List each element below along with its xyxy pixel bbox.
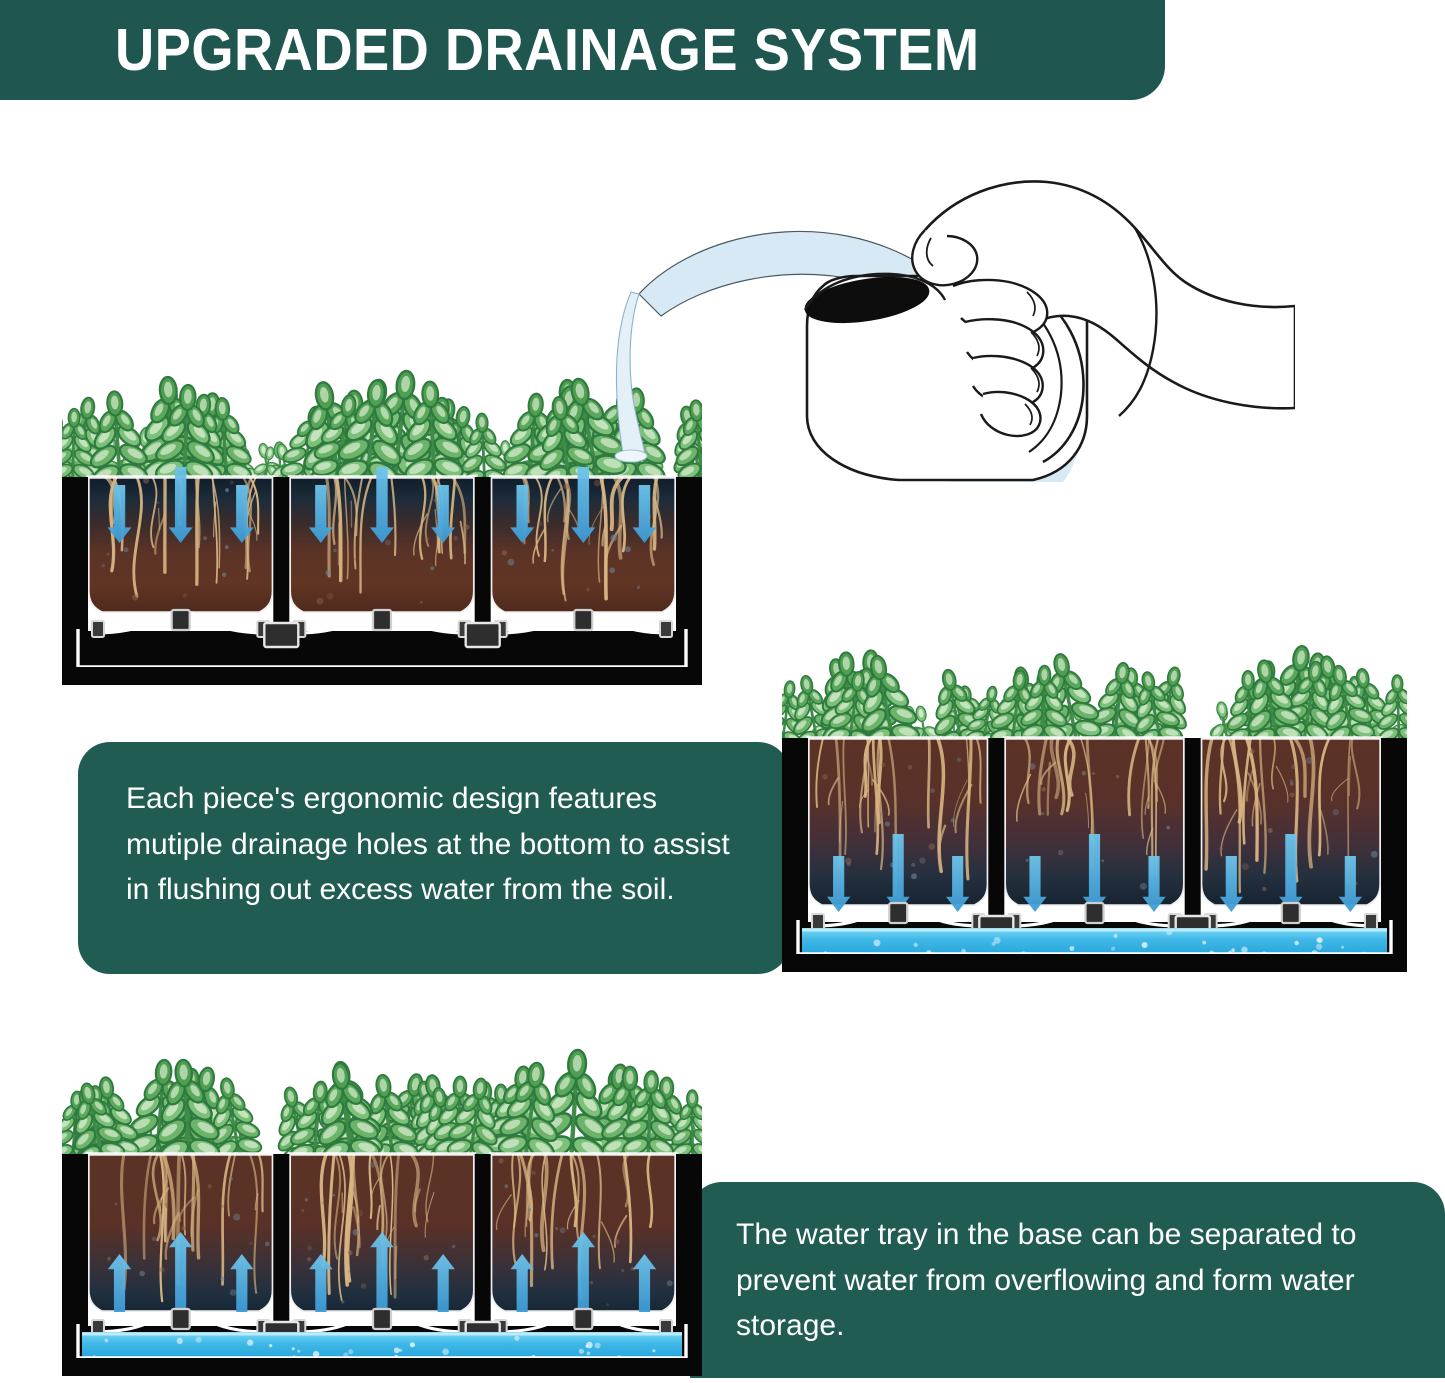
header-banner: UPGRADED DRAINAGE SYSTEM: [0, 0, 1165, 100]
soil-speckle: [1333, 809, 1339, 815]
tray-bottom-wall: [62, 667, 702, 685]
soil-speckle: [555, 1227, 558, 1230]
soil-speckle: [609, 568, 615, 574]
page-title: UPGRADED DRAINAGE SYSTEM: [115, 21, 980, 80]
water-bubble: [1316, 944, 1322, 950]
water-bubble: [1070, 946, 1075, 951]
drainage-hole: [1086, 903, 1104, 923]
divider-support-block: [466, 623, 500, 647]
soil-speckle: [929, 843, 936, 850]
soil-speckle: [305, 1198, 309, 1202]
soil-speckle: [1290, 792, 1295, 797]
soil-speckle: [1041, 787, 1046, 792]
water-bubble: [247, 1340, 253, 1346]
root-filament: [928, 738, 929, 827]
soil-speckle: [152, 1236, 157, 1241]
planter-bottom-storage: [62, 1030, 702, 1383]
drainage-hole: [574, 610, 592, 630]
soil-speckle: [208, 1184, 212, 1188]
soil-speckle: [667, 1280, 673, 1286]
soil-speckle: [957, 758, 961, 762]
planter-bottom-graphic: [62, 1030, 702, 1378]
soil-speckle: [332, 1194, 335, 1197]
soil-speckle: [132, 594, 138, 600]
soil-speckle: [354, 558, 356, 560]
soil-speckle: [341, 1300, 344, 1303]
water-bubble: [105, 1339, 109, 1343]
water-bubble: [1341, 946, 1344, 949]
water-bubble: [994, 937, 1001, 944]
soil-speckle: [101, 564, 105, 568]
water-bubble: [585, 1345, 588, 1348]
soil-speckle: [1289, 779, 1293, 783]
soil-speckle: [908, 765, 912, 769]
water-splash: [615, 450, 647, 462]
soil-speckle: [426, 537, 429, 540]
water-bubble: [292, 1347, 295, 1350]
water-bubble: [1142, 942, 1148, 948]
soil-speckle: [453, 536, 457, 540]
soil-speckle: [560, 1227, 566, 1233]
soil-speckle: [230, 1289, 237, 1296]
soil-speckle: [1166, 826, 1170, 830]
water-bubble: [1317, 937, 1323, 943]
water-bubble: [297, 1350, 300, 1353]
soil-speckle: [531, 1171, 535, 1175]
soil-speckle: [507, 559, 514, 566]
planter-middle-graphic: [782, 628, 1407, 976]
soil-speckle: [229, 1177, 233, 1181]
soil-speckle: [307, 1257, 311, 1261]
callout-water-tray: The water tray in the base can be separa…: [690, 1182, 1445, 1378]
soil-speckle: [353, 1229, 360, 1236]
callout-drainage-holes-text: Each piece's ergonomic design features m…: [126, 776, 750, 913]
water-bubble: [587, 1351, 591, 1355]
water-bubble: [1114, 934, 1118, 938]
soil-speckle: [420, 601, 423, 604]
callout-water-tray-text: The water tray in the base can be separa…: [736, 1212, 1411, 1349]
water-bubble: [196, 1337, 202, 1343]
soil-speckle: [1291, 765, 1295, 769]
soil-speckle: [370, 1162, 376, 1168]
soil-speckle: [434, 499, 437, 502]
divider-support-block: [264, 623, 298, 647]
water-bubble: [269, 1344, 272, 1347]
planter-body-group: [62, 1154, 702, 1376]
soil-speckle: [322, 1202, 325, 1205]
soil-speckle: [106, 553, 109, 556]
callout-drainage-holes: Each piece's ergonomic design features m…: [78, 742, 790, 974]
soil-speckle: [157, 502, 160, 505]
drainage-hole: [1282, 903, 1300, 923]
soil-speckle: [301, 1209, 304, 1212]
soil-speckle: [1026, 859, 1029, 862]
soil-speckle: [606, 1303, 609, 1306]
soil-speckle: [139, 1271, 145, 1277]
soil-speckle: [610, 534, 617, 541]
soil-speckle: [528, 1208, 532, 1212]
drainage-hole: [574, 1309, 592, 1329]
water-bubble: [579, 1349, 584, 1354]
soil-speckle: [465, 525, 470, 530]
tray-bottom-wall: [782, 954, 1407, 972]
soil-speckle: [637, 586, 640, 589]
drainage-hole: [172, 1309, 190, 1329]
soil-speckle: [930, 788, 935, 793]
soil-speckle: [221, 1205, 224, 1208]
soil-speckle: [498, 1158, 503, 1163]
soil-speckle: [1306, 757, 1313, 764]
hand-watering-can-graphic: [595, 110, 1295, 510]
soil-speckle: [430, 566, 434, 570]
soil-speckle: [160, 1267, 165, 1272]
water-bubble: [1294, 941, 1299, 946]
soil-speckle: [327, 593, 334, 600]
soil-speckle: [1082, 771, 1087, 776]
soil-speckle: [225, 488, 229, 492]
water-bubble: [1231, 948, 1235, 952]
soil-speckle: [615, 1239, 620, 1244]
soil-speckle: [230, 481, 234, 485]
soil-speckle: [590, 1281, 594, 1285]
tray-bottom-wall: [62, 1358, 702, 1376]
soil-speckle: [1371, 851, 1378, 858]
soil-speckle: [625, 546, 631, 552]
water-stream-tail: [616, 292, 645, 454]
drain-foot: [92, 621, 104, 637]
drainage-hole: [373, 1309, 391, 1329]
soil-speckle: [1029, 763, 1035, 769]
soil-speckle: [357, 1210, 364, 1217]
soil-speckle: [911, 863, 915, 867]
soil-speckle: [1146, 801, 1150, 805]
water-bubble: [442, 1348, 449, 1355]
water-bubble: [1202, 941, 1206, 945]
water-bubble: [514, 1336, 519, 1341]
soil-speckle: [385, 540, 391, 546]
soil-speckle: [881, 763, 885, 767]
water-bubble: [394, 1347, 400, 1353]
soil-speckle: [333, 549, 337, 553]
soil-speckle: [316, 598, 323, 605]
soil-speckle: [348, 1250, 353, 1255]
water-bubble: [874, 939, 881, 946]
soil-speckle: [911, 873, 917, 879]
soil-speckle: [1268, 828, 1273, 833]
soil-speckle: [225, 545, 229, 549]
water-bubble: [1241, 947, 1247, 953]
soil-speckle: [586, 588, 589, 591]
soil-speckle: [1219, 847, 1222, 850]
soil-speckle: [847, 862, 851, 866]
soil-speckle: [452, 1245, 455, 1248]
soil-speckle: [1092, 772, 1095, 775]
soil-speckle: [249, 1242, 252, 1245]
soil-speckle: [919, 857, 925, 863]
water-bubble: [1111, 947, 1115, 951]
soil-speckle: [950, 818, 954, 822]
soil-speckle: [822, 774, 828, 780]
soil-speckle: [326, 570, 332, 576]
planter-middle-draining: [782, 628, 1407, 981]
soil-speckle: [115, 1203, 117, 1205]
water-bubble: [652, 1349, 655, 1352]
soil-speckle: [885, 821, 890, 826]
soil-speckle: [222, 573, 226, 577]
soil-speckle: [348, 1270, 351, 1273]
water-bubble: [914, 943, 918, 947]
soil-speckle: [361, 1283, 367, 1289]
water-bubble: [595, 1343, 601, 1349]
soil-speckle: [1140, 883, 1147, 890]
soil-speckle: [1101, 859, 1104, 862]
soil-speckle: [1041, 812, 1044, 815]
water-bubble: [399, 1349, 402, 1352]
soil-speckle: [592, 1235, 595, 1238]
soil-speckle: [1116, 775, 1119, 778]
water-tray-fill: [802, 928, 1387, 954]
soil-speckle: [424, 1255, 429, 1260]
water-bubble: [410, 1342, 415, 1347]
soil-speckle: [233, 1214, 240, 1221]
water-bubble: [177, 1338, 183, 1344]
soil-speckle: [124, 547, 129, 552]
root-filament: [166, 1154, 167, 1202]
root-branch: [395, 1246, 396, 1278]
root-branch: [165, 1209, 166, 1241]
soil-speckle: [1262, 887, 1266, 891]
soil-speckle: [621, 1269, 624, 1272]
soil-speckle: [543, 1164, 545, 1166]
drainage-hole: [373, 610, 391, 630]
soil-speckle: [501, 550, 506, 555]
watering-illustration: [595, 110, 1295, 515]
soil-speckle: [265, 1242, 270, 1247]
soil-speckle: [537, 521, 542, 526]
soil-speckle: [1250, 749, 1254, 753]
soil-speckle: [220, 1277, 224, 1281]
drain-foot: [660, 621, 672, 637]
soil-speckle: [1242, 863, 1249, 870]
soil-speckle: [107, 1257, 111, 1261]
drainage-hole: [172, 610, 190, 630]
drainage-hole: [889, 903, 907, 923]
soil-speckle: [182, 1226, 186, 1230]
soil-speckle: [564, 483, 570, 489]
soil-speckle: [534, 1233, 538, 1237]
infographic-canvas: UPGRADED DRAINAGE SYSTEM Each piece's er…: [0, 0, 1445, 1378]
planter-body-group: [782, 738, 1407, 972]
water-bubble: [348, 1349, 353, 1354]
soil-speckle: [307, 1246, 312, 1251]
soil-speckle: [1058, 850, 1063, 855]
soil-speckle: [928, 815, 930, 817]
drain-foot: [812, 914, 824, 930]
drain-foot: [1365, 914, 1377, 930]
root-filament: [193, 1154, 194, 1250]
soil-speckle: [505, 1184, 509, 1188]
soil-speckle: [183, 593, 187, 597]
soil-speckle: [551, 549, 554, 552]
soil-speckle: [203, 536, 207, 540]
